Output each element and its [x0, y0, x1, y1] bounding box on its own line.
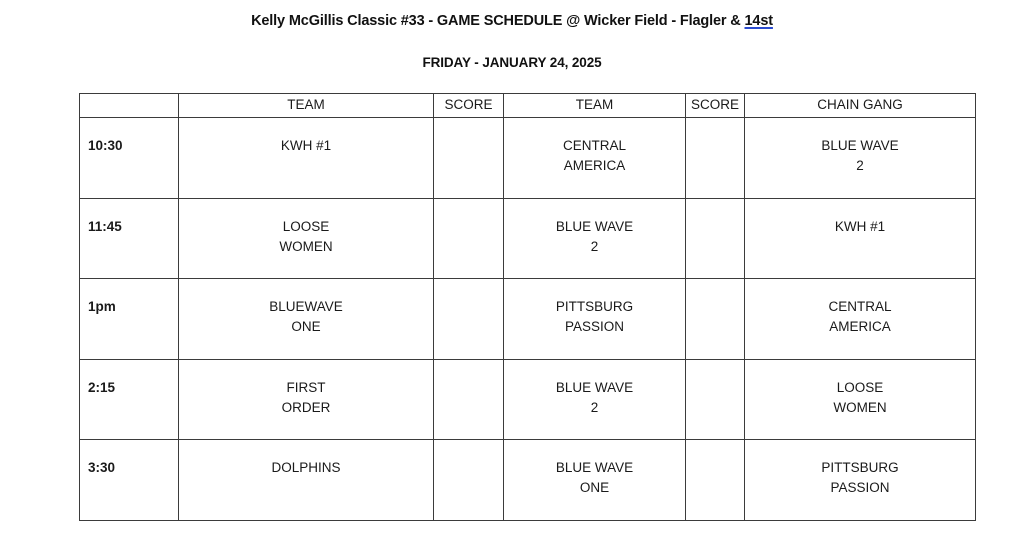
cell-time: 3:30	[80, 440, 179, 521]
game-time: 10:30	[80, 118, 178, 156]
cell-team-2: PITTSBURG PASSION	[504, 279, 686, 360]
team-2-name: BLUE WAVE ONE	[504, 440, 685, 498]
cell-score-2[interactable]	[686, 359, 745, 440]
cell-team-2: BLUE WAVE ONE	[504, 440, 686, 521]
score-1-value	[434, 440, 503, 458]
column-header-time	[80, 94, 179, 118]
cell-team-1: BLUEWAVE ONE	[179, 279, 434, 360]
game-time: 3:30	[80, 440, 178, 478]
score-1-value	[434, 199, 503, 217]
page-title-text: Kelly McGillis Classic #33 - GAME SCHEDU…	[251, 13, 744, 29]
team-1-name: BLUEWAVE ONE	[179, 279, 433, 337]
table-row: 3:30 DOLPHINS BLUE WAVE ONE PITTSBURG PA…	[80, 440, 976, 521]
cell-team-2: BLUE WAVE 2	[504, 359, 686, 440]
team-2-name: BLUE WAVE 2	[504, 360, 685, 418]
cell-score-1[interactable]	[434, 118, 504, 199]
cell-chain-gang: CENTRAL AMERICA	[745, 279, 976, 360]
cell-chain-gang: PITTSBURG PASSION	[745, 440, 976, 521]
cell-time: 1pm	[80, 279, 179, 360]
column-header-chain-gang: CHAIN GANG	[745, 94, 976, 118]
table-row: 11:45 LOOSE WOMEN BLUE WAVE 2 KWH #1	[80, 198, 976, 279]
game-time: 1pm	[80, 279, 178, 317]
chain-gang-name: KWH #1	[745, 199, 975, 237]
cell-score-2[interactable]	[686, 440, 745, 521]
score-2-value	[686, 440, 744, 458]
score-2-value	[686, 118, 744, 136]
cell-score-2[interactable]	[686, 118, 745, 199]
team-2-name: CENTRAL AMERICA	[504, 118, 685, 176]
cell-time: 10:30	[80, 118, 179, 199]
cell-score-1[interactable]	[434, 440, 504, 521]
team-2-name: BLUE WAVE 2	[504, 199, 685, 257]
game-time: 2:15	[80, 360, 178, 398]
score-1-value	[434, 279, 503, 297]
table-row: 1pm BLUEWAVE ONE PITTSBURG PASSION CENTR…	[80, 279, 976, 360]
cell-team-1: KWH #1	[179, 118, 434, 199]
team-1-name: LOOSE WOMEN	[179, 199, 433, 257]
chain-gang-name: BLUE WAVE 2	[745, 118, 975, 176]
score-2-value	[686, 360, 744, 378]
page-title: Kelly McGillis Classic #33 - GAME SCHEDU…	[0, 13, 1024, 29]
page-subtitle: FRIDAY - JANUARY 24, 2025	[0, 55, 1024, 70]
cell-time: 2:15	[80, 359, 179, 440]
cell-team-2: BLUE WAVE 2	[504, 198, 686, 279]
cell-score-1[interactable]	[434, 279, 504, 360]
chain-gang-name: CENTRAL AMERICA	[745, 279, 975, 337]
column-header-team-2: TEAM	[504, 94, 686, 118]
chain-gang-name: PITTSBURG PASSION	[745, 440, 975, 498]
column-header-score-1: SCORE	[434, 94, 504, 118]
cell-chain-gang: LOOSE WOMEN	[745, 359, 976, 440]
page-title-underlined-text: 14st	[745, 13, 773, 29]
table-row: 10:30 KWH #1 CENTRAL AMERICA BLUE WAVE 2	[80, 118, 976, 199]
team-2-name: PITTSBURG PASSION	[504, 279, 685, 337]
cell-team-1: FIRST ORDER	[179, 359, 434, 440]
score-2-value	[686, 199, 744, 217]
game-schedule-table: TEAM SCORE TEAM SCORE CHAIN GANG 10:30 K…	[79, 93, 976, 521]
score-2-value	[686, 279, 744, 297]
team-1-name: FIRST ORDER	[179, 360, 433, 418]
column-header-score-2: SCORE	[686, 94, 745, 118]
game-time: 11:45	[80, 199, 178, 237]
cell-team-1: LOOSE WOMEN	[179, 198, 434, 279]
score-1-value	[434, 360, 503, 378]
cell-score-1[interactable]	[434, 359, 504, 440]
cell-chain-gang: KWH #1	[745, 198, 976, 279]
cell-chain-gang: BLUE WAVE 2	[745, 118, 976, 199]
team-1-name: KWH #1	[179, 118, 433, 156]
cell-team-2: CENTRAL AMERICA	[504, 118, 686, 199]
table-header-row: TEAM SCORE TEAM SCORE CHAIN GANG	[80, 94, 976, 118]
cell-time: 11:45	[80, 198, 179, 279]
team-1-name: DOLPHINS	[179, 440, 433, 478]
cell-team-1: DOLPHINS	[179, 440, 434, 521]
cell-score-1[interactable]	[434, 198, 504, 279]
chain-gang-name: LOOSE WOMEN	[745, 360, 975, 418]
table-row: 2:15 FIRST ORDER BLUE WAVE 2 LOOSE WOMEN	[80, 359, 976, 440]
column-header-team-1: TEAM	[179, 94, 434, 118]
score-1-value	[434, 118, 503, 136]
cell-score-2[interactable]	[686, 198, 745, 279]
cell-score-2[interactable]	[686, 279, 745, 360]
